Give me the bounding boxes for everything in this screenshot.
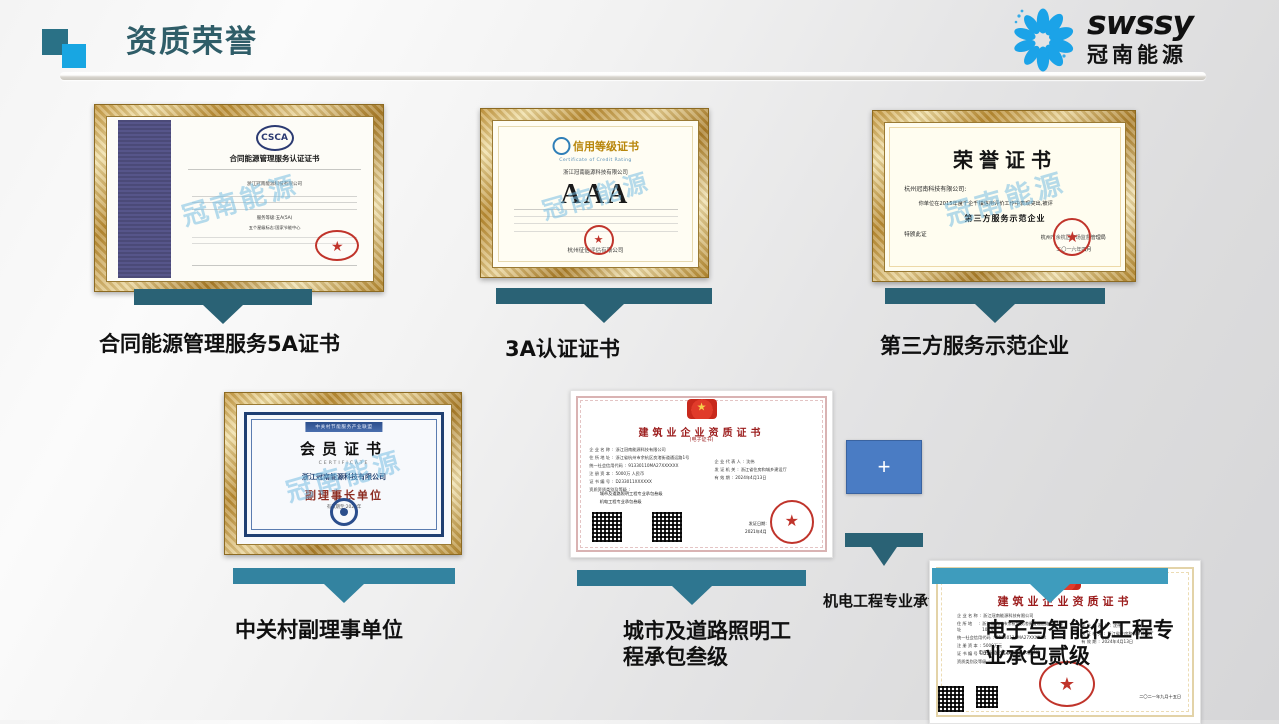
cert-note: 特颁此证 xyxy=(904,230,926,238)
logo-wordmark: swssy 冠南能源 xyxy=(1087,6,1265,68)
certificate-image-cert-aaa[interactable]: 信用等级证书 Certificate of Credit Rating 浙江冠南… xyxy=(480,108,709,278)
cert-side-panel xyxy=(118,120,171,277)
arrow-cert-honor xyxy=(885,288,1105,323)
cert-issue-date: 二〇二一年九月十五日 xyxy=(1139,694,1181,700)
cert-company: 杭州冠南科技有限公司: xyxy=(904,184,966,193)
cert-grade-2: 五个星级标志:国家节能中心 xyxy=(204,225,346,231)
header-square-light xyxy=(62,44,86,68)
caption-cert-5a: 合同能源管理服务5A证书 xyxy=(99,332,340,358)
field-label: 统一社会信用代码 xyxy=(589,463,623,469)
caption-mechanical: 机电工程专业承包 xyxy=(823,592,943,610)
logo-brand-latin: swssy xyxy=(1087,6,1265,40)
cert-company: 浙江冠南能源科技有限公司 xyxy=(302,472,386,482)
field-label: 证 书 编 号 xyxy=(957,651,978,657)
swssy-petal-logo-icon xyxy=(1007,6,1079,74)
field-value: 浙江冠南能源科技有限公司 xyxy=(615,447,665,453)
field-value: 91330110MA27XXXXXX xyxy=(628,463,678,469)
caption-cert-construction-lighting: 城市及道路照明工 程承包叁级 xyxy=(623,619,791,670)
arrow-cert-construction-lighting xyxy=(577,570,806,605)
cert-scope-2: 机电工程专业承包叁级 xyxy=(600,499,642,505)
caption-cert-honor: 第三方服务示范企业 xyxy=(880,334,1069,360)
cert-grade-1: 服务等级:五A(5A) xyxy=(204,215,346,221)
cert-seal: ★ xyxy=(584,225,614,255)
qr-code-right xyxy=(976,686,998,708)
field-value: D233011XXXXXX xyxy=(615,479,651,485)
cert-title: 信用等级证书 xyxy=(573,138,639,154)
cert-scope-1: 城市及道路照明工程专业承包叁级 xyxy=(600,491,663,497)
company-logo: swssy 冠南能源 xyxy=(1007,4,1267,76)
field-value: 浙江省住房和城乡建设厅 xyxy=(741,467,787,473)
certificate-image-cert-member[interactable]: 中关村节能服务产业联盟 会员证书 CERTIFICATE 浙江冠南能源科技有限公… xyxy=(224,392,462,555)
cert-seal: ★ xyxy=(315,230,359,261)
cert-issue-date: 2021年4月 xyxy=(745,529,767,535)
caption-cert-aaa: 3A认证证书 xyxy=(505,337,620,363)
qr-code-left xyxy=(938,686,964,712)
page-title: 资质荣誉 xyxy=(126,20,258,64)
field-value: 2024年4月13日 xyxy=(735,475,766,481)
arrow-cert-5a xyxy=(134,289,312,324)
certificate-image-cert-construction-lighting[interactable]: 建筑业企业资质证书 (电子证书) 企 业 名 称:浙江冠南能源科技有限公司 住 … xyxy=(570,390,833,558)
field-value: 5000万 人民币 xyxy=(615,471,644,477)
logo-brand-chinese: 冠南能源 xyxy=(1087,42,1265,68)
field-label: 住 所 地 址 xyxy=(589,455,610,461)
certificate-image-cert-honor[interactable]: 荣誉证书 杭州冠南科技有限公司: 你单位在2015年度千企千镇信用评价工作中表现… xyxy=(872,110,1136,282)
cert-seal: ★ xyxy=(770,500,814,544)
certificate-image-cert-5a[interactable]: CSCA 合同能源管理服务认证证书 浙江冠南能源科技有限公司 服务等级:五A(5… xyxy=(94,104,384,292)
qr-code-left xyxy=(592,512,622,542)
arrow-cert-aaa xyxy=(496,288,712,323)
cert-title: 会员证书 xyxy=(300,438,388,459)
caption-cert-member: 中关村副理事单位 xyxy=(235,618,403,644)
field-label: 证 书 编 号 xyxy=(589,479,610,485)
cert-title: 荣誉证书 xyxy=(953,144,1057,173)
field-label: 资质类别及等级 xyxy=(957,659,986,665)
cert-body-1: 你单位在2015年度千企千镇信用评价工作中表现突出,被评 xyxy=(919,200,1111,207)
cert-body-2: 第三方服务示范企业 xyxy=(965,213,1046,224)
slide-header: 资质荣誉 xyxy=(0,0,1279,92)
field-value: 沈伟 xyxy=(746,459,754,465)
cert-title-en: Certificate of Credit Rating xyxy=(559,158,632,163)
field-label: 注 册 资 本 xyxy=(957,643,978,649)
cert-field-list-left: 企 业 名 称:浙江冠南能源科技有限公司 住 所 地 址:浙江省杭州市余杭区良渚… xyxy=(589,447,704,493)
arrow-caption-mechanical xyxy=(845,533,923,566)
arrow-cert-construction-electronic xyxy=(932,568,1168,603)
cert-subtitle: (电子证书) xyxy=(690,436,714,443)
field-label: 注 册 资 本 xyxy=(589,471,610,477)
cert-banner: 中关村节能服务产业联盟 xyxy=(305,422,382,432)
credit-org-icon xyxy=(552,137,570,155)
cert-issue-label: 发证日期: xyxy=(749,521,767,527)
cert-company: 浙江冠南能源科技有限公司 xyxy=(188,181,361,187)
cert-field-list-right: 企 业 代 表 人:沈伟 发 证 机 关:浙江省住房和城乡建设厅 有 效 期:2… xyxy=(715,459,825,481)
field-label: 企 业 名 称 xyxy=(589,447,610,453)
arrow-cert-member xyxy=(233,568,455,603)
field-label: 有 效 期 xyxy=(715,475,730,481)
csca-logo-icon: CSCA xyxy=(256,125,294,151)
field-label: 企 业 代 表 人 xyxy=(715,459,741,465)
cert-title: 合同能源管理服务认证证书 xyxy=(188,153,361,164)
expand-plus-button[interactable]: + xyxy=(846,440,922,494)
caption-cert-construction-electronic: 电子与智能化工程专 业承包贰级 xyxy=(985,618,1174,669)
qr-code-right xyxy=(652,512,682,542)
cert-embossed-seal-icon xyxy=(330,498,358,526)
cert-rating: AAA xyxy=(561,179,631,211)
cert-title-en: CERTIFICATE xyxy=(319,461,370,466)
national-emblem-icon xyxy=(687,399,717,419)
field-value: 浙江省杭州市余杭区良渚街道通运路1号 xyxy=(615,455,689,461)
field-label: 企 业 名 称 xyxy=(957,613,978,619)
cert-company: 浙江冠南能源科技有限公司 xyxy=(563,168,628,176)
field-label: 发 证 机 关 xyxy=(715,467,736,473)
field-label: 住 所 地 址 xyxy=(957,621,977,633)
